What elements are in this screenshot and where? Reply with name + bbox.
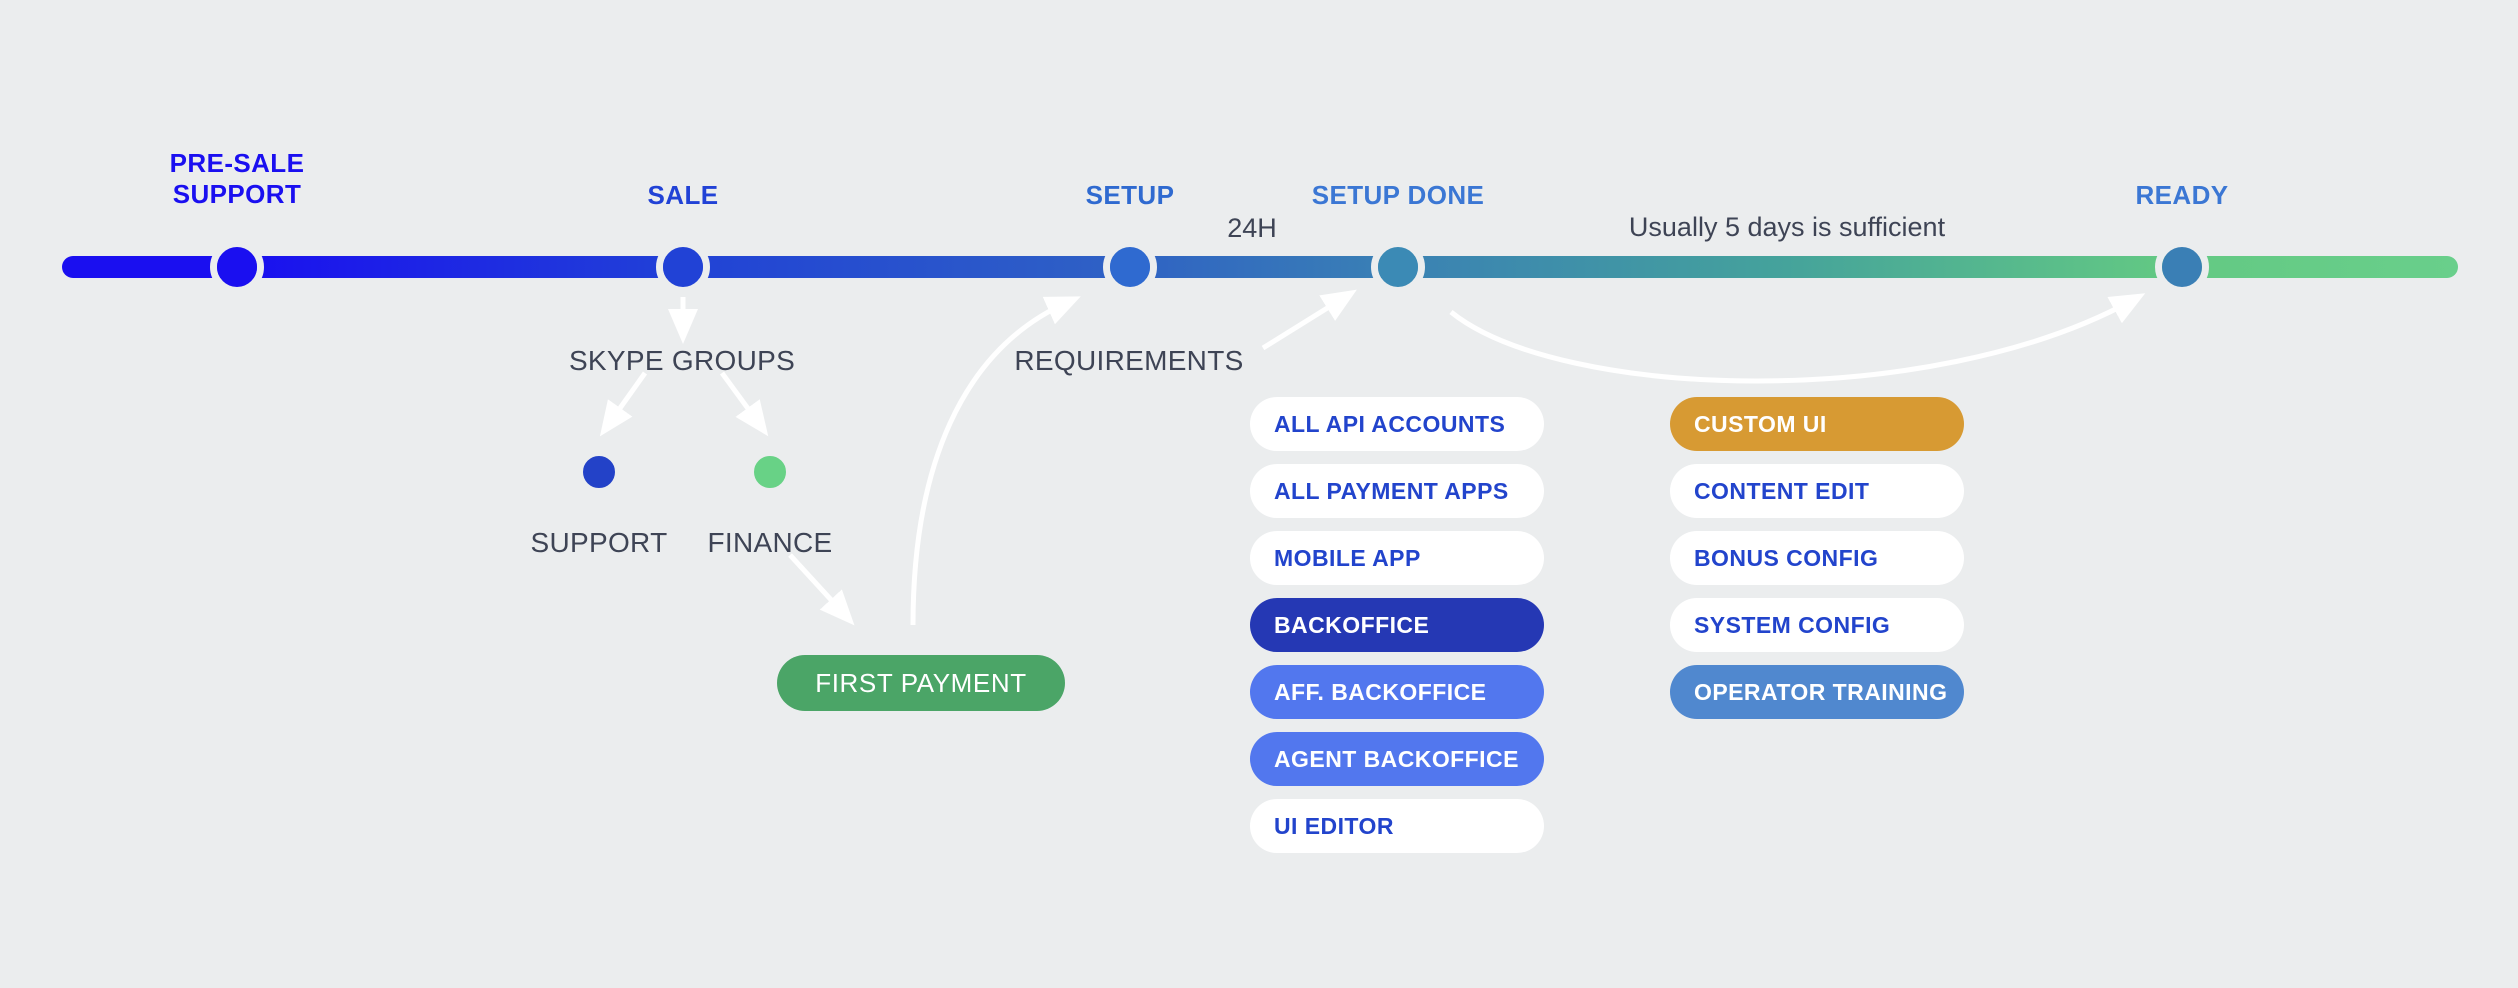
pill-aff-backoffice[interactable]: AFF. BACKOFFICE xyxy=(1250,665,1544,719)
node-fill xyxy=(1110,247,1150,287)
pill-label: OPERATOR TRAINING xyxy=(1694,679,1947,706)
milestone-label-pre-sale-support: PRE-SALE SUPPORT xyxy=(170,148,305,209)
milestone-node-setup-done[interactable] xyxy=(1371,240,1425,294)
milestone-label-line2: SETUP DONE xyxy=(1312,180,1485,211)
pill-agent-backoffice[interactable]: AGENT BACKOFFICE xyxy=(1250,732,1544,786)
branch-label-skype-groups: SKYPE GROUPS xyxy=(569,345,795,377)
connector-finance-to-first-payment xyxy=(790,555,845,615)
timeline-diagram: PRE-SALE SUPPORT SALE SETUP SETUP DONE R… xyxy=(0,0,2518,988)
branch-label-requirements: REQUIREMENTS xyxy=(1014,345,1243,377)
pill-label: BONUS CONFIG xyxy=(1694,545,1878,572)
milestone-label-line2: SUPPORT xyxy=(170,179,305,210)
pill-label: CUSTOM UI xyxy=(1694,411,1827,438)
milestone-label-setup: SETUP xyxy=(1086,180,1175,211)
pill-first-payment[interactable]: FIRST PAYMENT xyxy=(777,655,1065,711)
pill-all-payment-apps[interactable]: ALL PAYMENT APPS xyxy=(1250,464,1544,518)
timeline-rail xyxy=(62,256,2458,278)
branch-label-finance: FINANCE xyxy=(708,527,833,559)
milestone-label-line1: PRE-SALE xyxy=(170,148,305,179)
milestone-label-setup-done: SETUP DONE xyxy=(1312,180,1485,211)
node-fill xyxy=(217,247,257,287)
pill-custom-ui[interactable]: CUSTOM UI xyxy=(1670,397,1964,451)
pill-mobile-app[interactable]: MOBILE APP xyxy=(1250,531,1544,585)
milestone-label-line2: SETUP xyxy=(1086,180,1175,211)
connector-skype-groups-to-finance xyxy=(722,373,760,425)
pill-label: UI EDITOR xyxy=(1274,813,1394,840)
branch-dot-support[interactable] xyxy=(577,450,621,494)
pill-label: ALL PAYMENT APPS xyxy=(1274,478,1509,505)
node-fill xyxy=(2162,247,2202,287)
pill-all-api-accounts[interactable]: ALL API ACCOUNTS xyxy=(1250,397,1544,451)
milestone-label-ready: READY xyxy=(2135,180,2228,211)
milestone-node-setup[interactable] xyxy=(1103,240,1157,294)
pill-operator-training[interactable]: OPERATOR TRAINING xyxy=(1670,665,1964,719)
node-fill xyxy=(663,247,703,287)
pill-label: MOBILE APP xyxy=(1274,545,1421,572)
pill-label: BACKOFFICE xyxy=(1274,612,1429,639)
pill-label: SYSTEM CONFIG xyxy=(1694,612,1890,639)
connector-requirements-to-setup-done xyxy=(1263,297,1345,348)
milestone-label-line2: READY xyxy=(2135,180,2228,211)
milestone-label-sale: SALE xyxy=(648,180,719,211)
milestone-node-ready[interactable] xyxy=(2155,240,2209,294)
branch-label-support: SUPPORT xyxy=(531,527,668,559)
pill-backoffice[interactable]: BACKOFFICE xyxy=(1250,598,1544,652)
branch-dot-finance[interactable] xyxy=(748,450,792,494)
pill-ui-editor[interactable]: UI EDITOR xyxy=(1250,799,1544,853)
node-fill xyxy=(1378,247,1418,287)
pill-bonus-config[interactable]: BONUS CONFIG xyxy=(1670,531,1964,585)
connector-setup-done-to-ready xyxy=(1451,300,2133,381)
pill-label: CONTENT EDIT xyxy=(1694,478,1869,505)
milestone-node-pre-sale-support[interactable] xyxy=(210,240,264,294)
interval-note-24h: 24H xyxy=(1227,213,1277,244)
pill-content-edit[interactable]: CONTENT EDIT xyxy=(1670,464,1964,518)
pill-label: ALL API ACCOUNTS xyxy=(1274,411,1505,438)
interval-note-usually-5-days: Usually 5 days is sufficient xyxy=(1629,212,1945,243)
pill-label: AFF. BACKOFFICE xyxy=(1274,679,1486,706)
milestone-label-line2: SALE xyxy=(648,180,719,211)
pill-label: FIRST PAYMENT xyxy=(815,668,1026,699)
pill-label: AGENT BACKOFFICE xyxy=(1274,746,1519,773)
pill-system-config[interactable]: SYSTEM CONFIG xyxy=(1670,598,1964,652)
milestone-node-sale[interactable] xyxy=(656,240,710,294)
connector-skype-groups-to-support xyxy=(608,373,645,425)
